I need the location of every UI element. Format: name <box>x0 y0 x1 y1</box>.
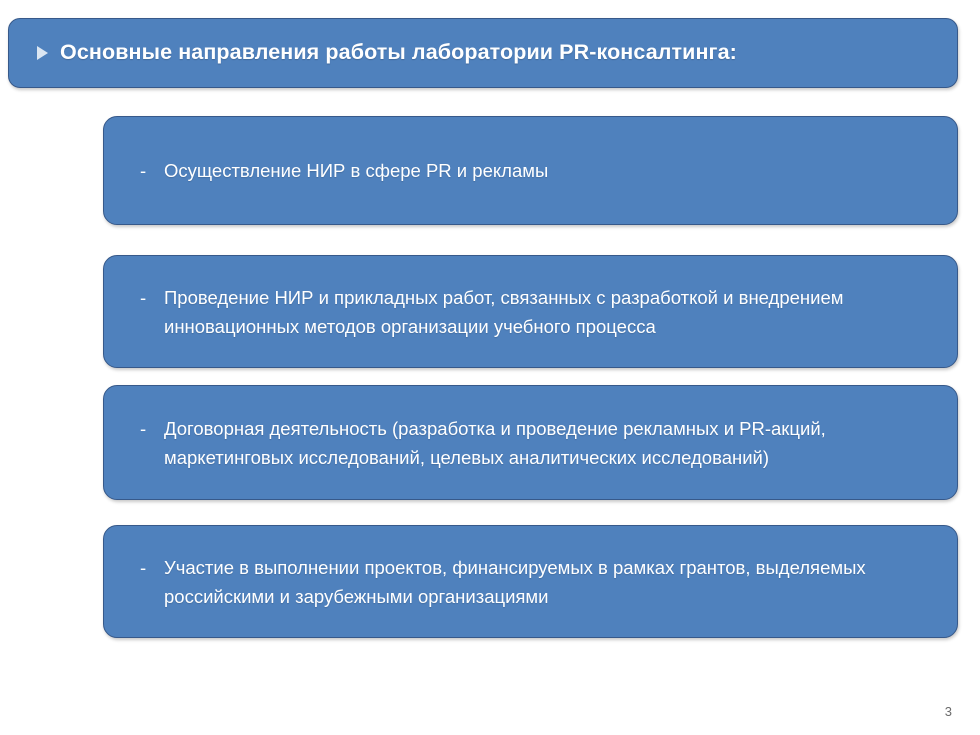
page-number: 3 <box>945 705 952 718</box>
list-item-text: Проведение НИР и прикладных работ, связа… <box>164 283 931 341</box>
bullet-row: - Осуществление НИР в сфере PR и рекламы <box>140 156 931 185</box>
bullet-row: - Проведение НИР и прикладных работ, свя… <box>140 283 931 341</box>
dash-marker: - <box>140 156 164 185</box>
dash-marker: - <box>140 283 164 312</box>
slide-canvas: Основные направления работы лаборатории … <box>0 0 980 735</box>
triangle-right-icon <box>37 46 48 60</box>
bullet-row: - Участие в выполнении проектов, финанси… <box>140 553 931 611</box>
list-item-text: Осуществление НИР в сфере PR и рекламы <box>164 156 931 185</box>
list-item-text: Участие в выполнении проектов, финансиру… <box>164 553 931 611</box>
list-item-text: Договорная деятельность (разработка и пр… <box>164 414 931 472</box>
list-item: - Осуществление НИР в сфере PR и рекламы <box>103 116 958 225</box>
list-item: - Участие в выполнении проектов, финанси… <box>103 525 958 638</box>
dash-marker: - <box>140 414 164 443</box>
list-item: - Договорная деятельность (разработка и … <box>103 385 958 500</box>
bullet-row: - Договорная деятельность (разработка и … <box>140 414 931 472</box>
dash-marker: - <box>140 553 164 582</box>
page-title: Основные направления работы лаборатории … <box>60 40 737 66</box>
list-item: - Проведение НИР и прикладных работ, свя… <box>103 255 958 368</box>
slide-title-banner: Основные направления работы лаборатории … <box>8 18 958 88</box>
title-row: Основные направления работы лаборатории … <box>37 40 937 66</box>
